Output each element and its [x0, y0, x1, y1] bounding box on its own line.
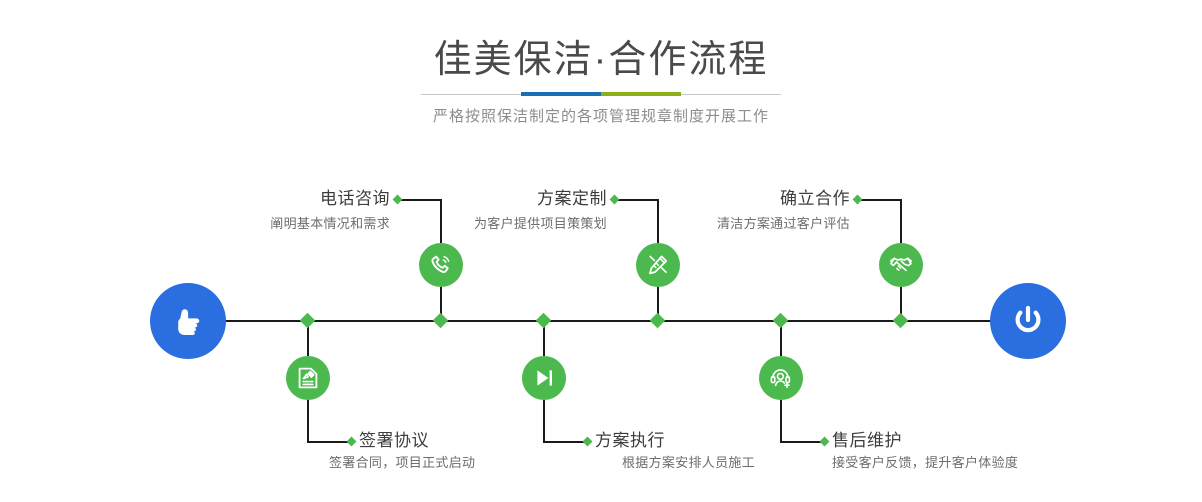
- step-6-elbow-h: [780, 441, 824, 443]
- step-1-desc: 阐明基本情况和需求: [155, 214, 390, 234]
- step-1-label-marker: [393, 195, 403, 205]
- step-3-icon-badge[interactable]: [636, 243, 680, 287]
- step-4-icon-badge[interactable]: [522, 356, 566, 400]
- play-execute-icon: [531, 365, 557, 391]
- pen-ruler-icon: [645, 252, 671, 278]
- step-4-axis-marker: [536, 313, 552, 329]
- page-subtitle: 严格按照保洁制定的各项管理规章制度开展工作: [0, 106, 1202, 128]
- handshake-icon: [888, 252, 914, 278]
- step-6-stem-lower: [780, 400, 782, 442]
- header-divider-accent-green: [601, 92, 681, 96]
- step-5-axis-marker: [893, 313, 909, 329]
- step-3-axis-marker: [650, 313, 666, 329]
- step-2-desc: 签署合同，项目正式启动: [329, 453, 589, 473]
- step-6-title: 售后维护: [832, 430, 1082, 452]
- step-4-elbow-h: [543, 441, 587, 443]
- step-1-axis-marker: [433, 313, 449, 329]
- document-edit-icon: [295, 365, 321, 391]
- step-2-icon-badge[interactable]: [286, 356, 330, 400]
- step-4-stem-lower: [543, 400, 545, 442]
- header-divider-accent-blue: [521, 92, 601, 96]
- step-3-title: 方案定制: [412, 188, 607, 210]
- power-icon: [1007, 300, 1049, 342]
- flow-start-node[interactable]: [150, 283, 226, 359]
- step-5-desc: 清洁方案通过客户评估: [610, 214, 850, 234]
- step-5-stem-upper: [900, 199, 902, 243]
- step-1-icon-badge[interactable]: [419, 243, 463, 287]
- step-2-axis-marker: [300, 313, 316, 329]
- step-3-elbow-h: [614, 199, 658, 201]
- flow-diagram-canvas: 佳美保洁·合作流程 严格按照保洁制定的各项管理规章制度开展工作: [0, 0, 1202, 502]
- step-2-stem-lower: [307, 400, 309, 442]
- step-5-label-marker: [853, 195, 863, 205]
- step-6-desc: 接受客户反馈，提升客户体验度: [832, 453, 1122, 473]
- step-1-title: 电话咨询: [195, 188, 390, 210]
- flow-end-node[interactable]: [990, 283, 1066, 359]
- step-2-elbow-h: [307, 441, 351, 443]
- step-5-title: 确立合作: [655, 188, 850, 210]
- step-6-icon-badge[interactable]: [759, 356, 803, 400]
- step-3-desc: 为客户提供项目策策划: [372, 214, 607, 234]
- step-6-axis-marker: [773, 313, 789, 329]
- step-5-elbow-h: [857, 199, 901, 201]
- phone-call-icon: [428, 252, 454, 278]
- step-2-label-marker: [347, 437, 357, 447]
- page-title: 佳美保洁·合作流程: [0, 38, 1202, 82]
- step-5-icon-badge[interactable]: [879, 243, 923, 287]
- pointing-hand-icon: [168, 301, 208, 341]
- step-3-label-marker: [610, 195, 620, 205]
- customer-support-icon: [768, 365, 794, 391]
